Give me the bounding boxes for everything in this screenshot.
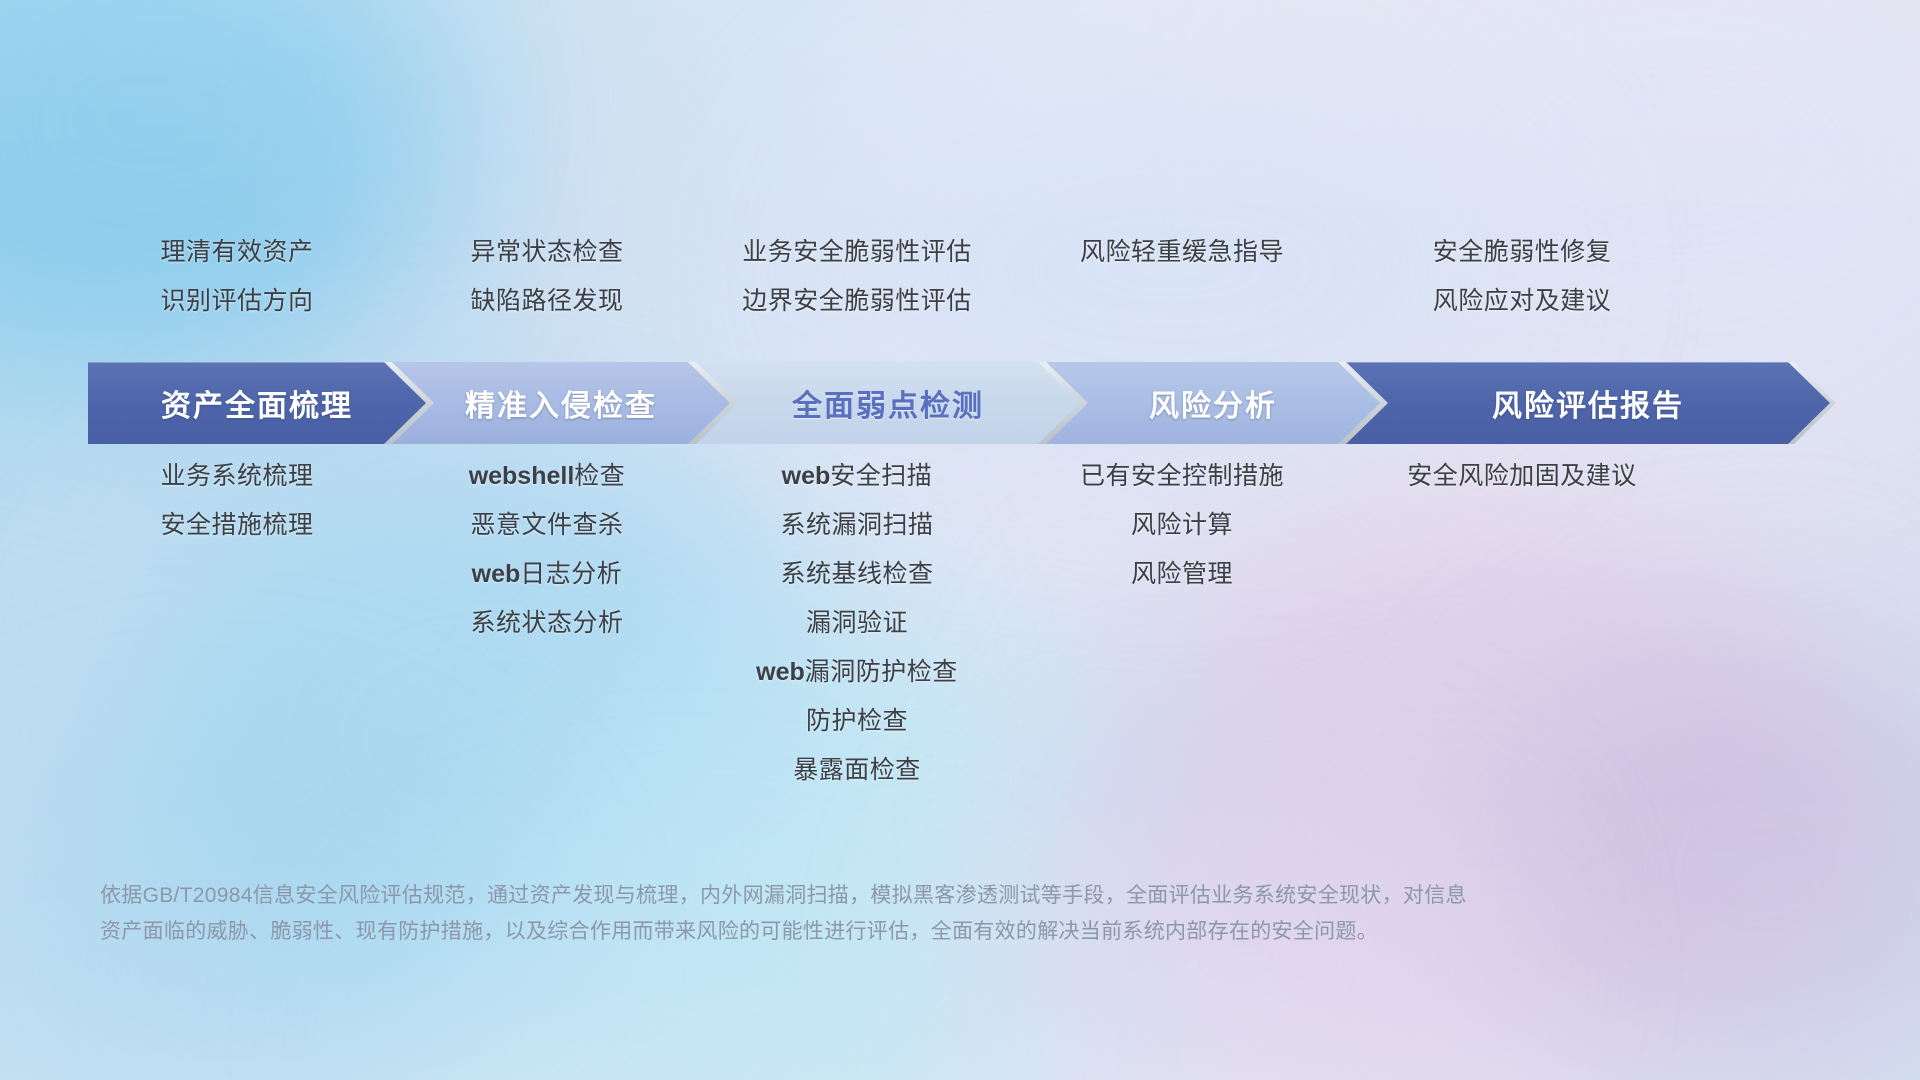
bottom-detail-item: 系统状态分析 <box>402 599 692 648</box>
bottom-detail-item: 系统基线检查 <box>692 550 1022 599</box>
top-labels-row: 理清有效资产 识别评估方向 异常状态检查 缺陷路径发现 业务安全脆弱性评估 边界… <box>72 228 1862 328</box>
bottom-details-stage-2: webshell检查恶意文件查杀web日志分析系统状态分析 <box>402 452 692 648</box>
chevron-label: 全面弱点检测 <box>792 381 984 425</box>
bottom-detail-item: webshell检查 <box>402 452 692 501</box>
chevron-stage-5[interactable]: 风险评估报告 <box>1346 362 1830 444</box>
bottom-detail-item: 风险管理 <box>1022 550 1342 599</box>
bottom-detail-item: 风险计算 <box>1022 501 1342 550</box>
top-label-item: 异常状态检查 <box>402 228 692 277</box>
bottom-detail-item: web安全扫描 <box>692 452 1022 501</box>
chevron-stage-1[interactable]: 资产全面梳理 <box>88 362 426 444</box>
top-label-item: 风险应对及建议 <box>1342 277 1702 326</box>
bottom-detail-item: 暴露面检查 <box>692 746 1022 795</box>
bottom-details-stage-1: 业务系统梳理安全措施梳理 <box>72 452 402 550</box>
footer-line: 资产面临的威胁、脆弱性、现有防护措施，以及综合作用而带来风险的可能性进行评估，全… <box>100 914 1700 950</box>
bottom-detail-item: 系统漏洞扫描 <box>692 501 1022 550</box>
bottom-detail-keyword: web <box>782 462 831 490</box>
chevron-label: 风险分析 <box>1149 381 1277 425</box>
top-label-item: 业务安全脆弱性评估 <box>692 228 1022 277</box>
chevron-stage-4[interactable]: 风险分析 <box>1046 362 1380 444</box>
bottom-detail-item: 业务系统梳理 <box>72 452 402 501</box>
top-label-item: 理清有效资产 <box>72 228 402 277</box>
footer-line: 依据GB/T20984信息安全风险评估规范，通过资产发现与梳理，内外网漏洞扫描，… <box>100 878 1700 914</box>
bottom-details-stage-5: 安全风险加固及建议 <box>1342 452 1702 501</box>
top-labels-stage-3: 业务安全脆弱性评估 边界安全脆弱性评估 <box>692 228 1022 328</box>
chevron-label: 精准入侵检查 <box>465 381 657 425</box>
top-label-item: 安全脆弱性修复 <box>1342 228 1702 277</box>
bottom-details-stage-4: 已有安全控制措施风险计算风险管理 <box>1022 452 1342 599</box>
top-label-item: 识别评估方向 <box>72 277 402 326</box>
bottom-detail-item: 安全措施梳理 <box>72 501 402 550</box>
top-labels-stage-2: 异常状态检查 缺陷路径发现 <box>402 228 692 328</box>
bottom-detail-item: 防护检查 <box>692 697 1022 746</box>
bottom-details-stage-3: web安全扫描系统漏洞扫描系统基线检查漏洞验证web漏洞防护检查防护检查暴露面检… <box>692 452 1022 795</box>
bottom-detail-item: 漏洞验证 <box>692 599 1022 648</box>
footer-description: 依据GB/T20984信息安全风险评估规范，通过资产发现与梳理，内外网漏洞扫描，… <box>100 878 1700 950</box>
chevron-label: 风险评估报告 <box>1492 381 1684 425</box>
chevron-stage-3[interactable]: 全面弱点检测 <box>696 362 1080 444</box>
bottom-detail-item: 已有安全控制措施 <box>1022 452 1342 501</box>
bottom-detail-item: 安全风险加固及建议 <box>1342 452 1702 501</box>
top-labels-stage-4: 风险轻重缓急指导 <box>1022 228 1342 328</box>
top-labels-stage-1: 理清有效资产 识别评估方向 <box>72 228 402 328</box>
top-label-item: 风险轻重缓急指导 <box>1022 228 1342 277</box>
bottom-detail-keyword: webshell <box>469 462 575 490</box>
chevron-label: 资产全面梳理 <box>161 381 353 425</box>
bottom-detail-item: web漏洞防护检查 <box>692 648 1022 697</box>
top-label-item: 边界安全脆弱性评估 <box>692 277 1022 326</box>
bottom-detail-keyword: web <box>472 560 521 588</box>
chevron-stage-2[interactable]: 精准入侵检查 <box>392 362 730 444</box>
bottom-detail-keyword: web <box>756 658 805 686</box>
process-diagram: 理清有效资产 识别评估方向 异常状态检查 缺陷路径发现 业务安全脆弱性评估 边界… <box>0 0 1920 1080</box>
top-label-item: 缺陷路径发现 <box>402 277 692 326</box>
top-labels-stage-5: 安全脆弱性修复 风险应对及建议 <box>1342 228 1702 328</box>
bottom-detail-item: web日志分析 <box>402 550 692 599</box>
bottom-details-row: 业务系统梳理安全措施梳理 webshell检查恶意文件查杀web日志分析系统状态… <box>72 452 1862 795</box>
chevron-band: 资产全面梳理 精准入侵检查 全面弱点检测 风险分析 风险评估报告 <box>88 362 1836 444</box>
bottom-detail-item: 恶意文件查杀 <box>402 501 692 550</box>
